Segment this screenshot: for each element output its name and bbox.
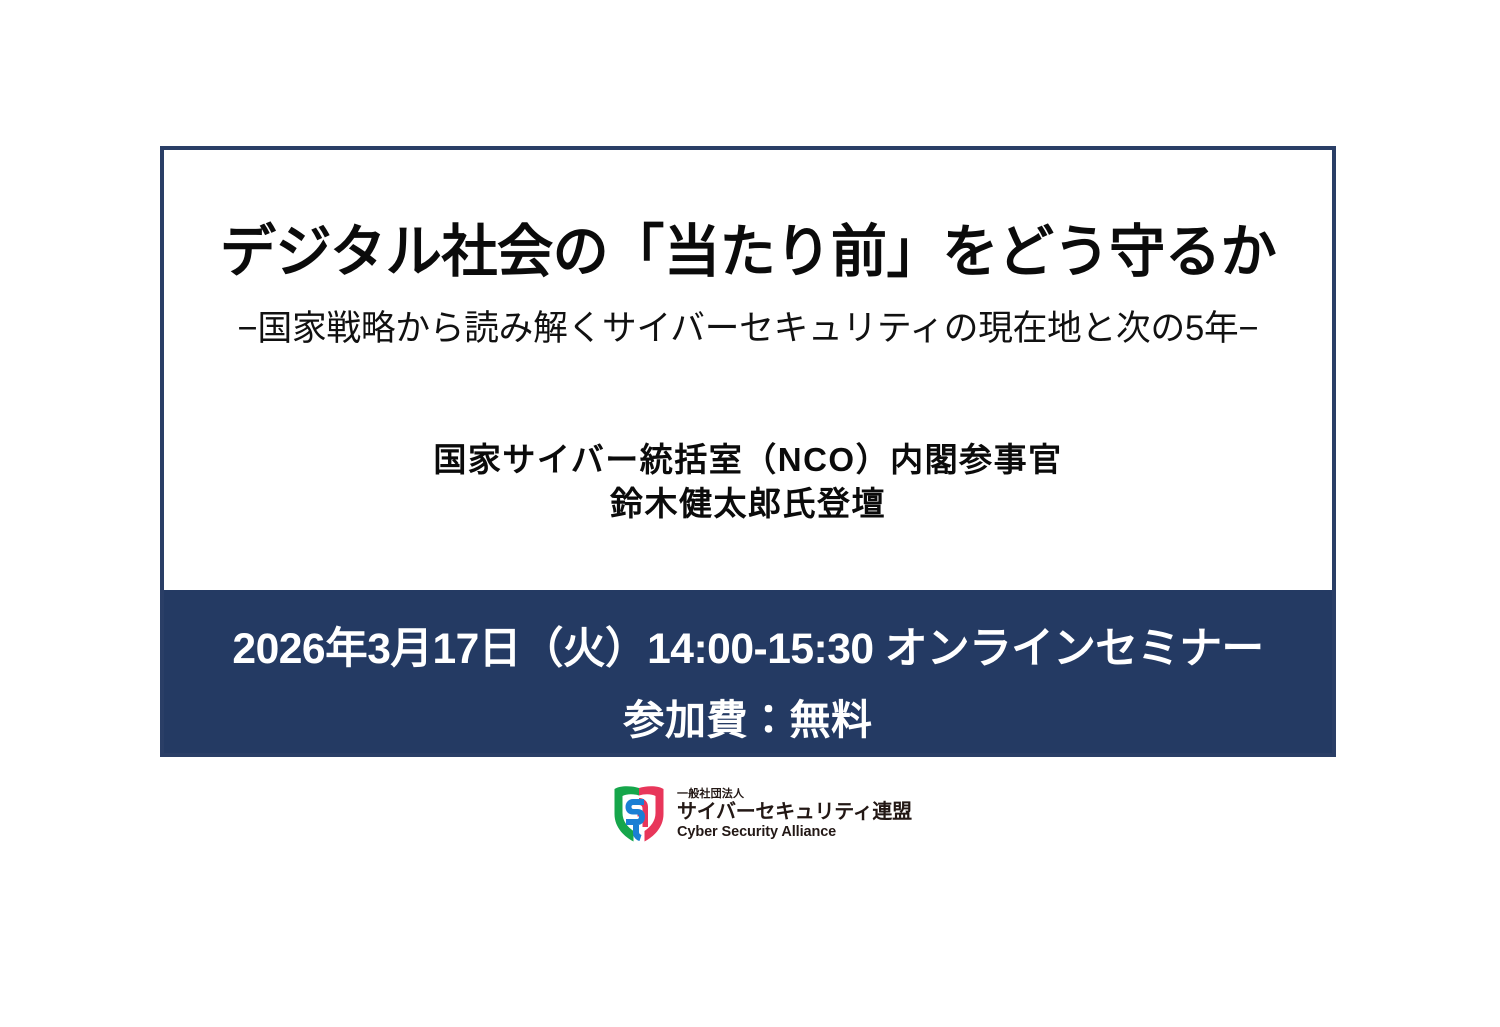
seminar-flyer-card: デジタル社会の「当たり前」をどう守るか −国家戦略から読み解くサイバーセキュリテ… xyxy=(160,146,1336,757)
speaker-block: 国家サイバー統括室（NCO）内閣参事官 鈴木健太郎氏登壇 xyxy=(164,438,1332,525)
page-title: デジタル社会の「当たり前」をどう守るか xyxy=(173,222,1323,284)
logo-name-en: Cyber Security Alliance xyxy=(677,825,912,840)
organization-logo: 一般社団法人 サイバーセキュリティ連盟 Cyber Security Allia… xyxy=(611,785,912,843)
page-subtitle: −国家戦略から読み解くサイバーセキュリティの現在地と次の5年− xyxy=(170,308,1326,350)
flyer-schedule-bar: 2026年3月17日（火）14:00-15:30 オンラインセミナー 参加費：無… xyxy=(164,590,1332,753)
speaker-name: 鈴木健太郎氏登壇 xyxy=(164,482,1332,526)
speaker-organization: 国家サイバー統括室（NCO）内閣参事官 xyxy=(164,438,1332,482)
participation-fee: 参加費：無料 xyxy=(164,686,1332,746)
flyer-upper-section: デジタル社会の「当たり前」をどう守るか −国家戦略から読み解くサイバーセキュリテ… xyxy=(164,150,1332,590)
logo-text-block: 一般社団法人 サイバーセキュリティ連盟 Cyber Security Allia… xyxy=(677,789,912,840)
logo-corporate-type: 一般社団法人 xyxy=(677,789,912,800)
logo-name-ja: サイバーセキュリティ連盟 xyxy=(677,802,912,822)
schedule-datetime: 2026年3月17日（火）14:00-15:30 オンラインセミナー xyxy=(170,614,1326,676)
csa-shield-logo-icon xyxy=(611,785,667,843)
